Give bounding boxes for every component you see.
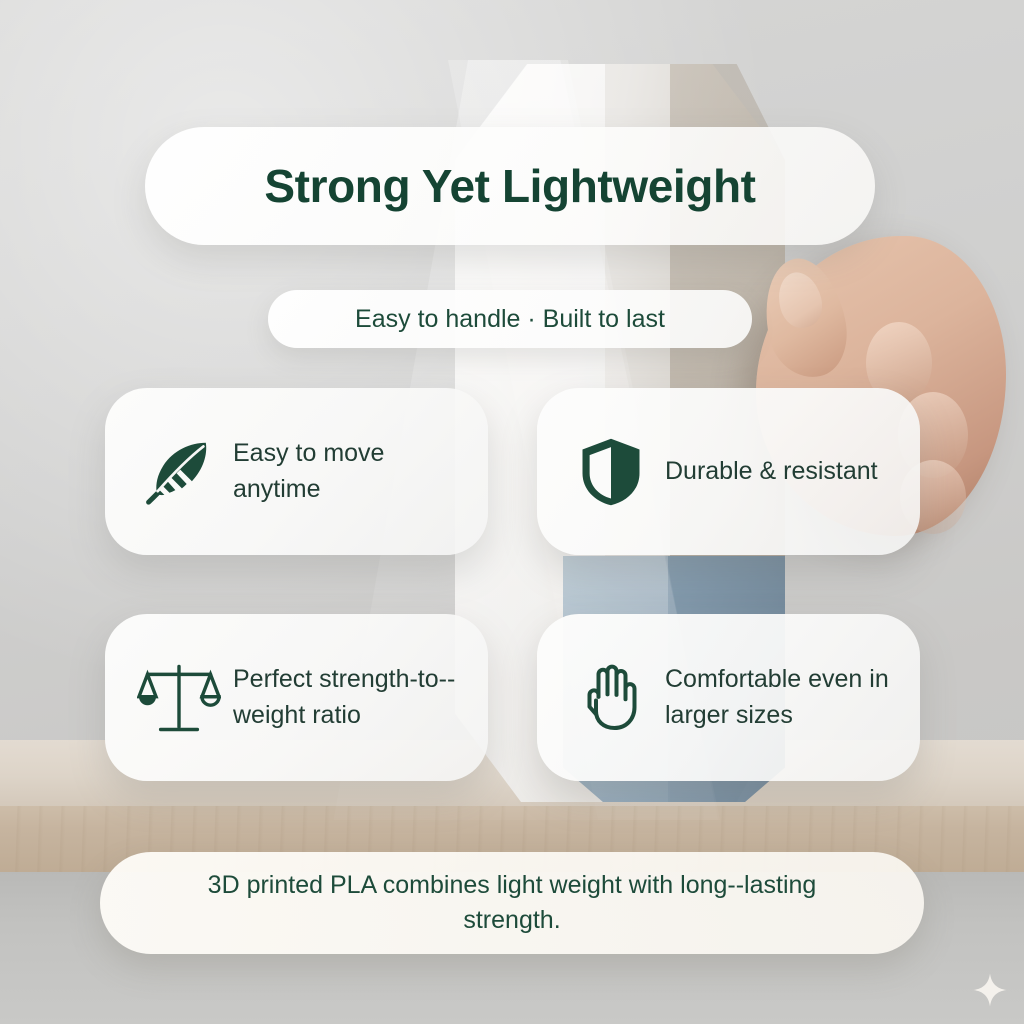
balance-scale-icon	[133, 652, 225, 744]
feature-card-easy-to-move[interactable]: Easy to move anytime	[105, 388, 488, 555]
shield-icon	[565, 426, 657, 518]
sparkle-icon	[972, 972, 1008, 1008]
page-title: Strong Yet Lightweight	[264, 159, 755, 213]
page-subtitle: Easy to handle · Built to last	[355, 305, 665, 334]
footer-text: 3D printed PLA combines light weight wit…	[162, 868, 862, 938]
feature-label: Perfect strength-to--weight ratio	[225, 662, 478, 733]
open-hand-icon	[565, 652, 657, 744]
subtitle-pill: Easy to handle · Built to last	[268, 290, 752, 348]
footer-pill: 3D printed PLA combines light weight wit…	[100, 852, 924, 954]
infographic-canvas: Strong Yet Lightweight Easy to handle · …	[0, 0, 1024, 1024]
headline-pill: Strong Yet Lightweight	[145, 127, 875, 245]
feature-label: Comfortable even in larger sizes	[657, 662, 910, 733]
feature-card-grid: Easy to move anytime Durable & resistant	[105, 388, 920, 780]
feature-label: Easy to move anytime	[225, 436, 478, 507]
feature-card-strength-ratio[interactable]: Perfect strength-to--weight ratio	[105, 614, 488, 781]
feature-card-durable[interactable]: Durable & resistant	[537, 388, 920, 555]
feather-icon	[133, 426, 225, 518]
feature-card-comfortable[interactable]: Comfortable even in larger sizes	[537, 614, 920, 781]
feature-label: Durable & resistant	[657, 454, 878, 490]
